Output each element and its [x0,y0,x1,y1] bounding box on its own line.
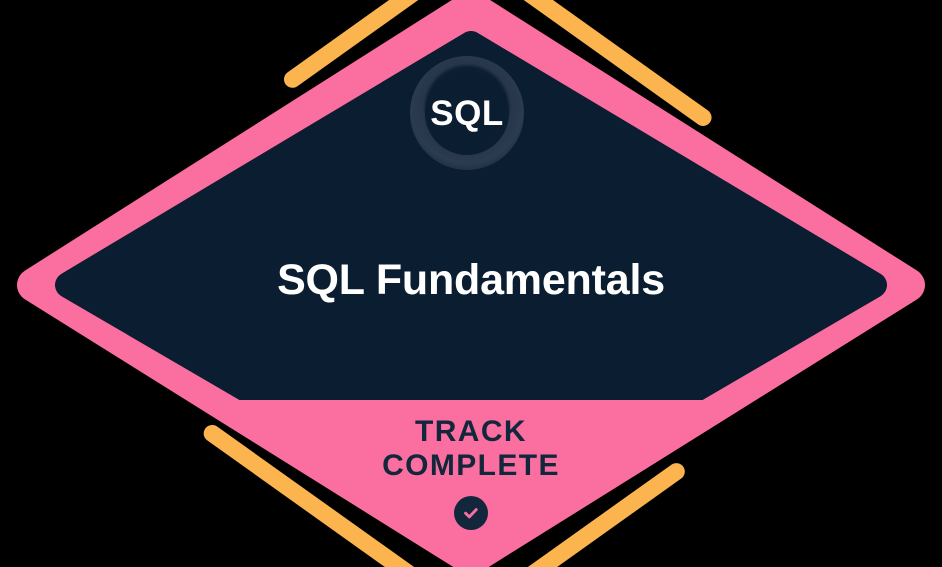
status-line-1: TRACK [0,415,942,449]
check-circle-icon [454,496,488,530]
status-line-2: COMPLETE [0,449,942,483]
sql-logo-badge-inner: SQL [425,71,509,155]
status-check-wrapper [0,496,942,530]
sql-logo-badge-icon: SQL [410,56,524,170]
track-status-block: TRACK COMPLETE [0,415,942,530]
sql-logo-label: SQL [430,96,503,131]
track-completion-badge: SQL SQL Fundamentals TRACK COMPLETE [0,0,942,567]
check-mark-glyph [461,503,481,523]
track-title: SQL Fundamentals [0,256,942,305]
